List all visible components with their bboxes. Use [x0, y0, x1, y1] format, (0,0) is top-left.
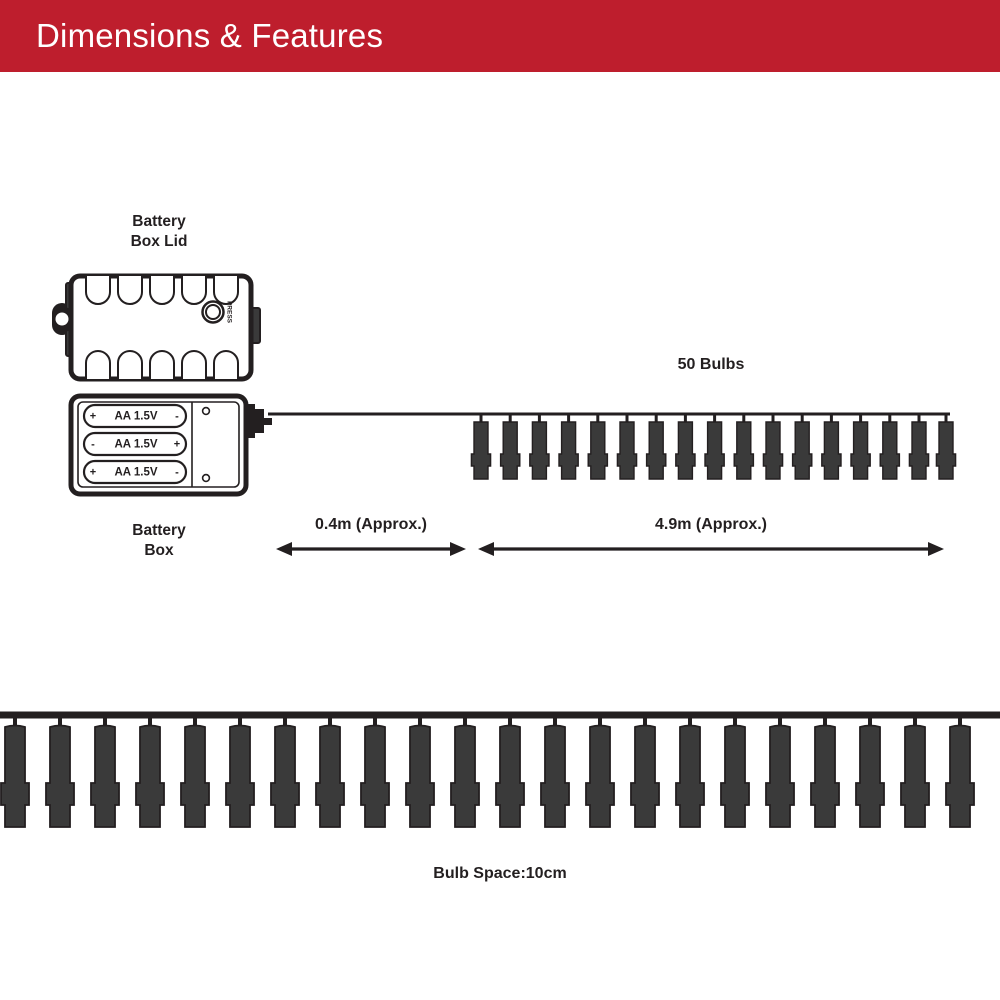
lower-bulb: [811, 715, 839, 827]
cable-connector: [246, 404, 272, 438]
press-button-label: PRESS: [225, 301, 232, 324]
lower-bulb: [91, 715, 119, 827]
lower-bulb: [46, 715, 74, 827]
screw-hole-bottom: [203, 475, 210, 482]
lid-tab-top-4: [182, 276, 206, 304]
lower-bulb: [316, 715, 344, 827]
battery-slot-3: + AA 1.5V -: [84, 461, 186, 483]
lower-bulb: [676, 715, 704, 827]
upper-bulb: [530, 414, 549, 479]
upper-bulb: [705, 414, 724, 479]
label-strand-length: 4.9m (Approx.): [655, 515, 767, 535]
label-battery-box-lid: Battery Box Lid: [131, 212, 188, 252]
label-battery-box: Battery Box: [132, 521, 185, 561]
label-lead-length: 0.4m (Approx.): [315, 515, 427, 535]
label-bulb-space: Bulb Space:10cm: [433, 864, 566, 884]
battery-polarity-left-1: +: [90, 410, 96, 422]
battery-box-graphic: + AA 1.5V - - AA 1.5V + + AA 1.5V -: [71, 396, 272, 494]
lower-bulb: [451, 715, 479, 827]
diagram-canvas: PRESS + AA 1.5V - - AA 1.5V +: [0, 0, 1000, 1000]
dimension-arrow-strand: [478, 542, 944, 556]
battery-polarity-right-2: +: [174, 438, 180, 450]
lower-bulb: [856, 715, 884, 827]
lower-bulb: [361, 715, 389, 827]
upper-bulb: [734, 414, 753, 479]
upper-bulb: [851, 414, 870, 479]
battery-slot-2: - AA 1.5V +: [84, 433, 186, 455]
lower-bulb: [766, 715, 794, 827]
battery-polarity-right-3: -: [175, 466, 179, 478]
upper-bulb: [936, 414, 955, 479]
product-diagram-page: Dimensions & Features: [0, 0, 1000, 1000]
battery-box-lid-graphic: PRESS: [52, 276, 260, 379]
upper-bulb: [880, 414, 899, 479]
lower-bulb: [136, 715, 164, 827]
upper-bulb: [909, 414, 928, 479]
lower-bulb: [586, 715, 614, 827]
upper-bulb: [647, 414, 666, 479]
lid-tab-bottom-5: [214, 351, 238, 379]
label-battery-box-lid-line1: Battery: [131, 212, 188, 232]
label-battery-box-line1: Battery: [132, 521, 185, 541]
upper-bulb: [559, 414, 578, 479]
lower-bulb: [721, 715, 749, 827]
battery-name-3: AA 1.5V: [114, 467, 157, 479]
upper-bulb: [617, 414, 636, 479]
lower-bulb: [901, 715, 929, 827]
lower-bulb: [946, 715, 974, 827]
lower-bulb: [541, 715, 569, 827]
lid-tab-top-5: [214, 276, 238, 304]
lid-tab-bottom-1: [86, 351, 110, 379]
lid-tab-bottom-2: [118, 351, 142, 379]
upper-bulb: [501, 414, 520, 479]
lower-bulb: [496, 715, 524, 827]
label-battery-box-lid-line2: Box Lid: [131, 232, 188, 252]
label-bulb-count: 50 Bulbs: [678, 355, 745, 375]
lid-tab-top-2: [118, 276, 142, 304]
battery-name-2: AA 1.5V: [114, 439, 157, 451]
dimension-arrow-lead: [276, 542, 466, 556]
upper-bulb: [471, 414, 490, 479]
battery-slot-1: + AA 1.5V -: [84, 405, 186, 427]
dimension-arrows: [276, 542, 944, 556]
screw-hole-top: [203, 408, 210, 415]
lower-bulb: [271, 715, 299, 827]
upper-bulb: [676, 414, 695, 479]
lid-tab-bottom-3: [150, 351, 174, 379]
lower-bulb: [181, 715, 209, 827]
battery-polarity-left-2: -: [91, 438, 95, 450]
upper-bulb: [588, 414, 607, 479]
lower-bulb: [406, 715, 434, 827]
upper-bulb: [793, 414, 812, 479]
upper-strand: [268, 414, 956, 479]
lower-strand: [0, 715, 1000, 827]
lower-bulb: [1, 715, 29, 827]
label-battery-box-line2: Box: [132, 541, 185, 561]
press-button-inner: [206, 305, 220, 319]
battery-polarity-right-1: -: [175, 410, 179, 422]
battery-name-1: AA 1.5V: [114, 411, 157, 423]
battery-polarity-left-3: +: [90, 466, 96, 478]
lower-bulb: [226, 715, 254, 827]
upper-bulb: [822, 414, 841, 479]
lower-bulb: [631, 715, 659, 827]
lid-tab-bottom-4: [182, 351, 206, 379]
lid-tab-top-1: [86, 276, 110, 304]
upper-bulb: [763, 414, 782, 479]
lid-tab-top-3: [150, 276, 174, 304]
